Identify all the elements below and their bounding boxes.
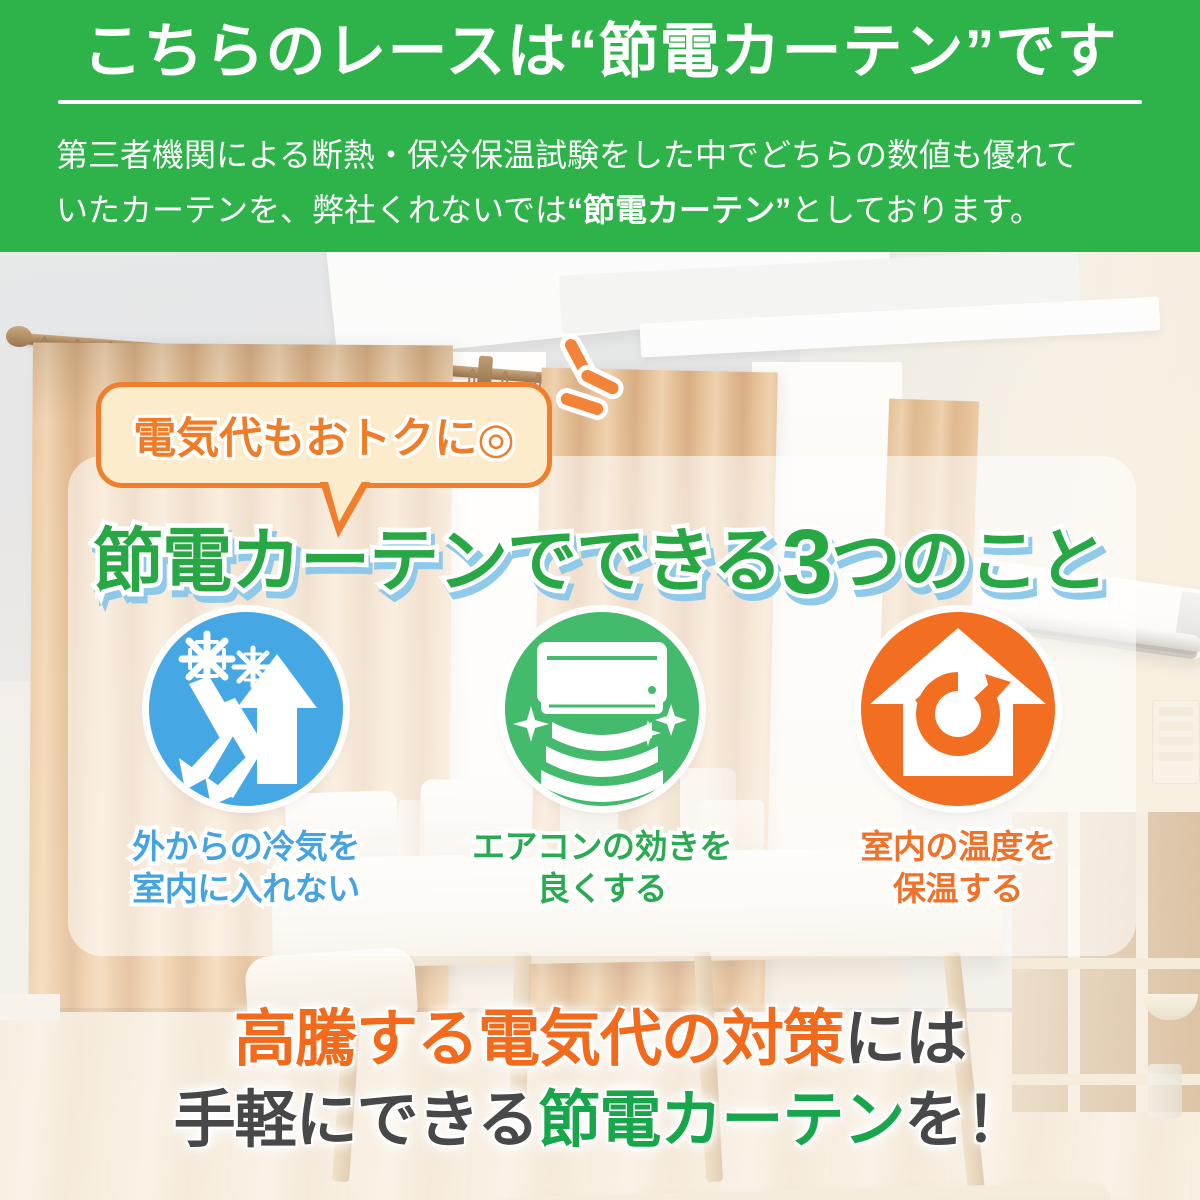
feature-label-line-1: 外からの冷気を: [132, 828, 360, 865]
air-conditioner-icon: [505, 612, 699, 806]
bottom-headline: 高騰する電気代の対策には 手軽にできる節電カーテンを！: [0, 1000, 1200, 1161]
subtitle-line-2-pre: いたカーテンを、弊社くれないでは: [56, 192, 567, 228]
infographic-root: こちらのレースは“節電カーテン”です 第三者機関による断熱・保冷保温試験をした中…: [0, 0, 1200, 1200]
heading-number: 3: [782, 511, 831, 613]
subtitle-line-1: 第三者機関による断熱・保冷保温試験をした中でどちらの数値も優れて: [56, 137, 1078, 173]
feature-label-line-1: エアコンの効きを: [472, 828, 732, 865]
feature-label-temperature: 室内の温度を 保温する: [861, 826, 1056, 910]
bottom-line2-pre: 手軽にできる: [174, 1086, 539, 1155]
feature-label-cold-air: 外からの冷気を 室内に入れない: [132, 826, 360, 910]
green-header: こちらのレースは“節電カーテン”です 第三者機関による断熱・保冷保温試験をした中…: [0, 0, 1200, 252]
feature-list: 外からの冷気を 室内に入れない: [68, 612, 1136, 942]
bottom-line1-emphasis: 高騰する電気代の対策: [234, 1005, 844, 1074]
page-title: こちらのレースは“節電カーテン”です: [0, 18, 1200, 85]
subtitle-line-2-post: としております。: [791, 192, 1042, 228]
feature-label-air-conditioner: エアコンの効きを 良くする: [472, 826, 732, 910]
feature-item-cold-air: 外からの冷気を 室内に入れない: [81, 612, 411, 910]
cold-air-block-icon: [149, 612, 343, 806]
feature-label-line-2: 良くする: [537, 870, 667, 907]
header-divider: [58, 100, 1142, 104]
header-subtitle: 第三者機関による断熱・保冷保温試験をした中でどちらの数値も優れて いたカーテンを…: [56, 128, 1152, 238]
heading-part-2: つのこと: [831, 522, 1107, 600]
main-heading: 節電カーテンでできる3つのこと: [0, 505, 1200, 615]
bottom-line1-rest: には: [844, 1005, 966, 1074]
feature-label-line-2: 保温する: [893, 870, 1023, 907]
feature-item-air-conditioner: エアコンの効きを 良くする: [437, 612, 767, 910]
feature-item-temperature: 室内の温度を 保温する: [793, 612, 1123, 910]
speech-bubble-text: 電気代もおトクに◎: [133, 404, 515, 466]
bottom-line2-emphasis: 節電カーテン: [538, 1086, 904, 1155]
feature-label-line-1: 室内の温度を: [861, 828, 1056, 865]
subtitle-line-2-emphasis: “節電カーテン”: [567, 192, 791, 228]
savings-speech-bubble: 電気代もおトクに◎: [96, 382, 552, 488]
house-temperature-retention-icon: [861, 612, 1055, 806]
feature-label-line-2: 室内に入れない: [132, 870, 360, 907]
wall-panel: [1152, 700, 1200, 784]
bottom-line2-post: を！: [904, 1086, 1026, 1155]
heading-part-1: 節電カーテンでできる: [93, 522, 782, 600]
